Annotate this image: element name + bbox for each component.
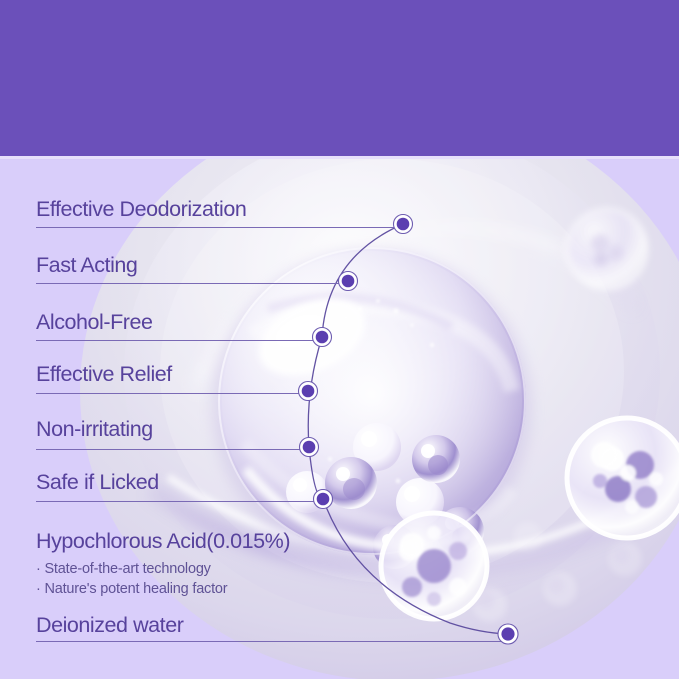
feature-rule bbox=[36, 340, 322, 341]
ingredient-item-deionized-water[interactable]: Deionized water bbox=[36, 612, 183, 638]
bubble-crystal-right bbox=[567, 418, 679, 538]
infographic-canvas: Effective and hypoallergenic Oral Care w… bbox=[0, 0, 679, 679]
feature-label: Non-irritating bbox=[36, 416, 153, 442]
water-label: Deionized water bbox=[36, 612, 183, 638]
feature-item-non-irritating[interactable]: Non-irritating bbox=[36, 416, 153, 442]
feature-label: Safe if Licked bbox=[36, 469, 159, 495]
feature-rule bbox=[36, 501, 323, 502]
feature-rule bbox=[36, 227, 403, 228]
feature-label: Effective Relief bbox=[36, 361, 172, 387]
feature-rule bbox=[36, 393, 308, 394]
ingredient-block: Hypochlorous Acid(0.015%) · State-of-the… bbox=[36, 528, 290, 599]
ingredient-bullets: · State-of-the-art technology · Nature's… bbox=[36, 559, 290, 599]
feature-rule bbox=[36, 449, 309, 450]
feature-item-fast-acting[interactable]: Fast Acting bbox=[36, 252, 137, 278]
feature-label: Alcohol-Free bbox=[36, 309, 152, 335]
ingredient-title: Hypochlorous Acid(0.015%) bbox=[36, 528, 290, 555]
ingredient-bullet: · State-of-the-art technology bbox=[36, 559, 290, 579]
water-rule bbox=[36, 641, 508, 642]
feature-label: Fast Acting bbox=[36, 252, 137, 278]
header-banner bbox=[0, 0, 679, 156]
ingredient-bullet: · Nature's potent healing factor bbox=[36, 579, 290, 599]
feature-rule bbox=[36, 283, 348, 284]
bubble-molecule-left bbox=[381, 513, 487, 619]
feature-item-effective-deodorization[interactable]: Effective Deodorization bbox=[36, 196, 246, 222]
header-divider bbox=[0, 156, 679, 159]
feature-item-effective-relief[interactable]: Effective Relief bbox=[36, 361, 172, 387]
feature-item-alcohol-free[interactable]: Alcohol-Free bbox=[36, 309, 152, 335]
feature-item-safe-if-licked[interactable]: Safe if Licked bbox=[36, 469, 159, 495]
feature-label: Effective Deodorization bbox=[36, 196, 246, 222]
bubble-top-right bbox=[567, 209, 647, 289]
